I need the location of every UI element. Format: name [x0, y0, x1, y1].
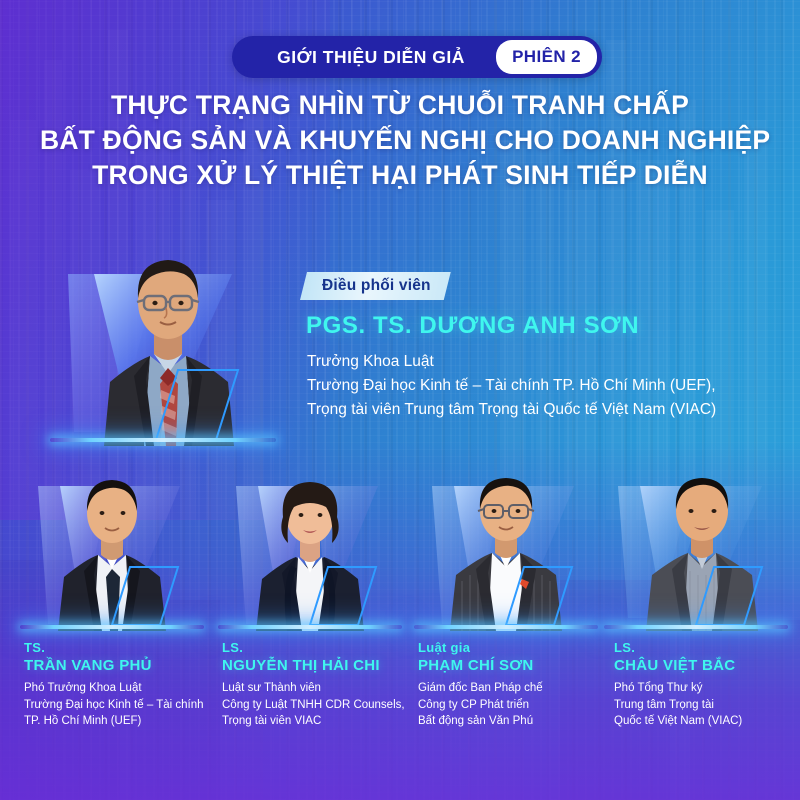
speaker-text-3: Luật gia PHẠM CHÍ SƠN Giám đốc Ban Pháp … — [418, 640, 606, 730]
speaker-portrait-2 — [246, 471, 374, 631]
glow-bar-3 — [414, 625, 598, 629]
title-line-3: TRONG XỬ LÝ THIỆT HẠI PHÁT SINH TIẾP DIỄ… — [40, 158, 760, 193]
speaker-portrait-1 — [48, 471, 176, 631]
speaker-card-3: Luật gia PHẠM CHÍ SƠN Giám đốc Ban Pháp … — [408, 468, 604, 800]
speaker-desc-1-line-2: Trường Đại học Kinh tế – Tài chính — [24, 697, 212, 714]
moderator-role-line-1: Trưởng Khoa Luật — [307, 350, 777, 374]
speaker-desc-4-line-1: Phó Tổng Thư ký — [614, 680, 800, 697]
speaker-desc-3-line-1: Giám đốc Ban Pháp chế — [418, 680, 606, 697]
moderator-photo-block — [36, 246, 286, 446]
speaker-card-4: LS. CHÂU VIỆT BẮC Phó Tổng Thư ký Trung … — [604, 468, 800, 800]
speaker-desc-2-line-1: Luật sư Thành viên — [222, 680, 410, 697]
speaker-photo-block-1 — [14, 468, 210, 633]
speakers-row: TS. TRẦN VANG PHỦ Phó Trưởng Khoa Luật T… — [0, 468, 800, 800]
speaker-desc-1: Phó Trưởng Khoa Luật Trường Đại học Kinh… — [24, 680, 212, 730]
moderator-portrait — [88, 250, 248, 446]
speaker-prefix-2: LS. — [222, 640, 410, 656]
title-line-1: THỰC TRẠNG NHÌN TỪ CHUỖI TRANH CHẤP — [40, 88, 760, 123]
poster-root: GIỚI THIỆU DIỄN GIẢ PHIÊN 2 THỰC TRẠNG N… — [0, 0, 800, 800]
speaker-desc-4-line-3: Quốc tế Việt Nam (VIAC) — [614, 713, 800, 730]
section-pill: GIỚI THIỆU DIỄN GIẢ PHIÊN 2 — [232, 36, 602, 78]
moderator-badge: Điều phối viên — [300, 272, 451, 300]
speaker-desc-3-line-2: Công ty CP Phát triển — [418, 697, 606, 714]
speaker-card-1: TS. TRẦN VANG PHỦ Phó Trưởng Khoa Luật T… — [14, 468, 210, 800]
moderator-role-line-3: Trọng tài viên Trung tâm Trọng tài Quốc … — [307, 398, 777, 422]
glow-bar-2 — [218, 625, 402, 629]
speaker-prefix-3: Luật gia — [418, 640, 606, 656]
speaker-desc-4-line-2: Trung tâm Trọng tài — [614, 697, 800, 714]
speaker-name-2: NGUYỄN THỊ HẢI CHI — [222, 656, 410, 675]
moderator-role: Trưởng Khoa Luật Trường Đại học Kinh tế … — [307, 350, 777, 422]
speaker-photo-block-3 — [408, 468, 604, 633]
page-title: THỰC TRẠNG NHÌN TỪ CHUỖI TRANH CHẤP BẤT … — [40, 88, 760, 193]
speaker-photo-block-2 — [212, 468, 408, 633]
speaker-desc-2-line-2: Công ty Luật TNHH CDR Counsels, — [222, 697, 410, 714]
speaker-name-1: TRẦN VANG PHỦ — [24, 656, 212, 675]
speaker-desc-1-line-3: TP. Hồ Chí Minh (UEF) — [24, 713, 212, 730]
speaker-desc-2-line-3: Trọng tài viên VIAC — [222, 713, 410, 730]
speaker-desc-4: Phó Tổng Thư ký Trung tâm Trọng tài Quốc… — [614, 680, 800, 730]
speaker-name-3: PHẠM CHÍ SƠN — [418, 656, 606, 675]
speaker-card-2: LS. NGUYỄN THỊ HẢI CHI Luật sư Thành viê… — [212, 468, 408, 800]
speaker-desc-3: Giám đốc Ban Pháp chế Công ty CP Phát tr… — [418, 680, 606, 730]
speaker-desc-3-line-3: Bất động sản Văn Phú — [418, 713, 606, 730]
title-line-2: BẤT ĐỘNG SẢN VÀ KHUYẾN NGHỊ CHO DOANH NG… — [40, 123, 760, 158]
glow-bar-1 — [20, 625, 204, 629]
moderator-name: PGS. TS. DƯƠNG ANH SƠN — [306, 312, 639, 340]
speaker-text-4: LS. CHÂU VIỆT BẮC Phó Tổng Thư ký Trung … — [614, 640, 800, 730]
speaker-desc-1-line-1: Phó Trưởng Khoa Luật — [24, 680, 212, 697]
glow-bar-4 — [604, 625, 788, 629]
speaker-prefix-4: LS. — [614, 640, 800, 656]
speaker-portrait-4 — [638, 471, 766, 631]
speaker-desc-2: Luật sư Thành viên Công ty Luật TNHH CDR… — [222, 680, 410, 730]
pill-label: GIỚI THIỆU DIỄN GIẢ — [232, 47, 496, 68]
speaker-prefix-1: TS. — [24, 640, 212, 656]
speaker-name-4: CHÂU VIỆT BẮC — [614, 656, 800, 675]
speaker-portrait-3 — [442, 471, 570, 631]
speaker-text-1: TS. TRẦN VANG PHỦ Phó Trưởng Khoa Luật T… — [24, 640, 212, 730]
pill-session-chip: PHIÊN 2 — [496, 40, 597, 74]
speaker-photo-block-4 — [604, 468, 800, 633]
moderator-role-line-2: Trường Đại học Kinh tế – Tài chính TP. H… — [307, 374, 777, 398]
glow-bar-moderator — [50, 438, 276, 442]
speaker-text-2: LS. NGUYỄN THỊ HẢI CHI Luật sư Thành viê… — [222, 640, 410, 730]
